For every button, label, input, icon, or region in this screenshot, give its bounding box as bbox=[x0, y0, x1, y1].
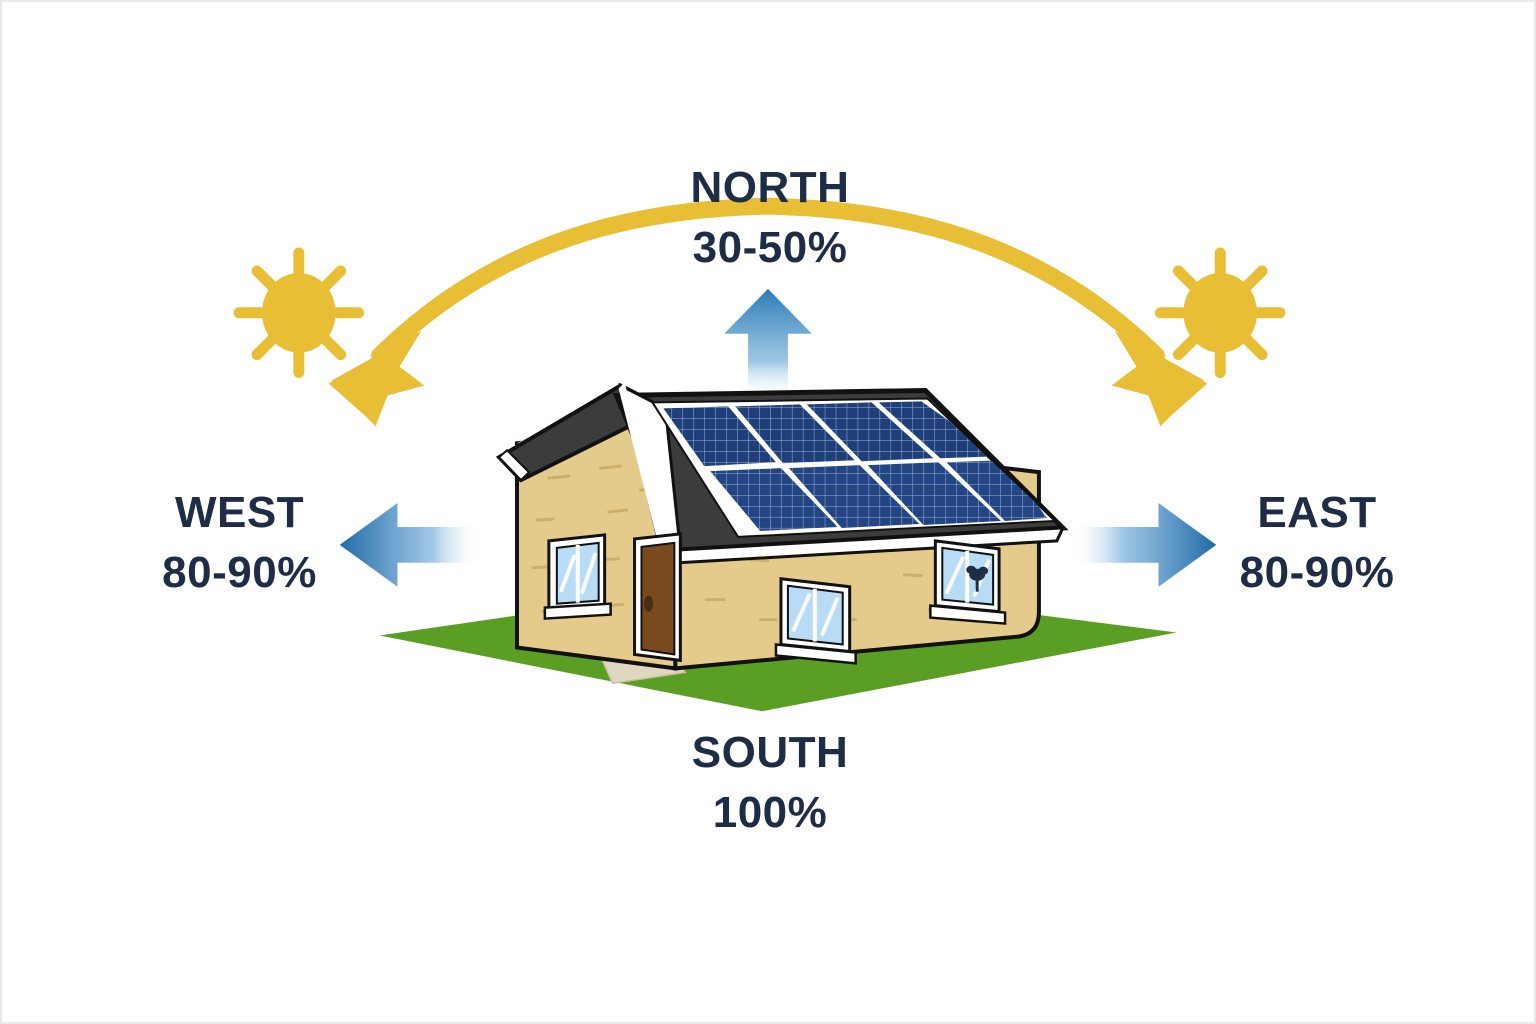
solar-orientation-scene bbox=[2, 2, 1534, 1022]
diagram-canvas: NORTH 30-50% WEST 80-90% EAST 80-90% SOU… bbox=[0, 0, 1536, 1024]
sun-icon bbox=[1160, 253, 1280, 373]
front-door bbox=[635, 534, 681, 661]
house-with-solar-panels bbox=[499, 383, 1063, 669]
arrow-left-west bbox=[340, 503, 481, 587]
sun-icon bbox=[239, 253, 359, 373]
arrow-right-east bbox=[1071, 503, 1216, 587]
door-handle bbox=[644, 596, 653, 612]
window-front bbox=[545, 535, 611, 619]
window-side-right bbox=[930, 541, 1005, 624]
window-side-left bbox=[776, 579, 856, 664]
arrow-up-north bbox=[724, 289, 812, 401]
